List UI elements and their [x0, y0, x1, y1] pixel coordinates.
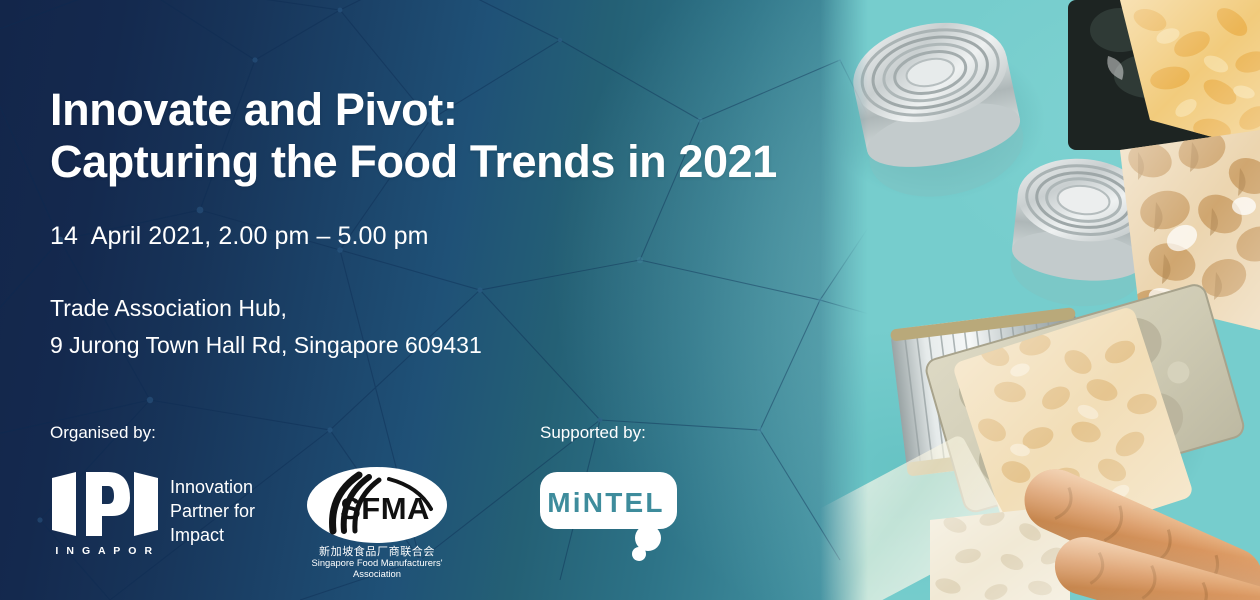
sfma-name-chinese: 新加坡食品厂商联合会 — [319, 544, 435, 558]
ipi-country-label: S I N G A P O R E — [50, 545, 160, 557]
page-title: Innovate and Pivot: Capturing the Food T… — [50, 84, 777, 188]
supported-by-label: Supported by: — [540, 423, 646, 443]
event-banner: Innovate and Pivot: Capturing the Food T… — [0, 0, 1260, 600]
event-venue: Trade Association Hub, 9 Jurong Town Hal… — [50, 290, 482, 365]
ipi-tagline: Innovation Partner for Impact — [170, 476, 255, 548]
sfma-name-english-line2: Association — [353, 568, 401, 579]
photo-contents — [820, 0, 1260, 600]
event-datetime: 14 April 2021, 2.00 pm – 5.00 pm — [50, 222, 429, 251]
food-photo — [820, 0, 1260, 600]
sfma-name-english-line1: Singapore Food Manufacturers' — [311, 557, 442, 568]
ipi-logo: S I N G A P O R E — [50, 470, 160, 558]
organised-by-label: Organised by: — [50, 423, 156, 443]
sfma-wordmark: SFMA — [340, 491, 430, 526]
mintel-logo: MiNTEL — [540, 472, 685, 562]
sfma-logo: SFMA 新加坡食品厂商联合会 Singapore Food Manufactu… — [303, 465, 451, 580]
mintel-wordmark: MiNTEL — [547, 487, 664, 518]
